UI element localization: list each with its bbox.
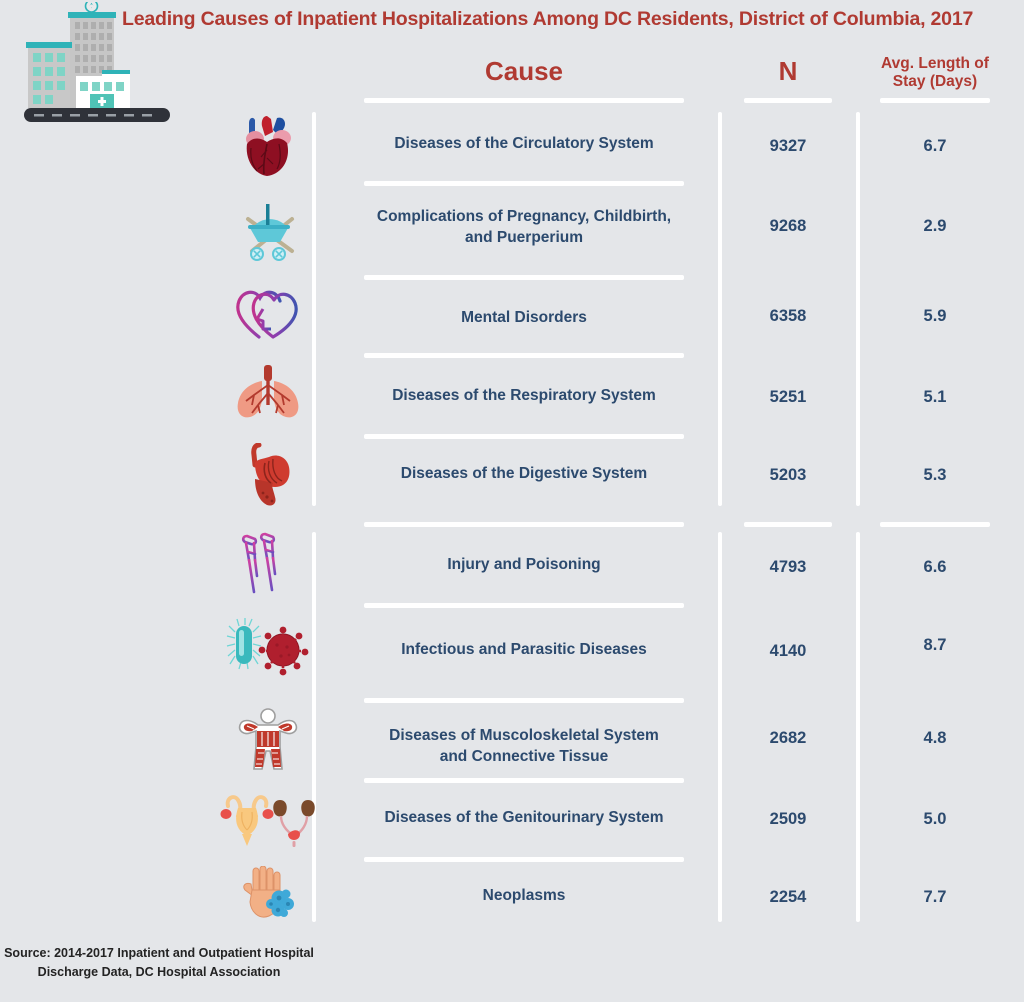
bacteria-virus-icon bbox=[225, 616, 311, 676]
cause-line-4a: Diseases of the Respiratory System bbox=[364, 386, 684, 407]
cause-line-10a: Neoplasms bbox=[364, 886, 684, 907]
cell-cause-10: Neoplasms bbox=[364, 886, 684, 907]
section-rule-n bbox=[744, 522, 832, 527]
row-icon-neoplasms bbox=[218, 865, 318, 925]
anatomical-heart-icon bbox=[237, 114, 299, 178]
row-separator-2 bbox=[364, 275, 684, 280]
cause-line-2b: and Puerperium bbox=[364, 228, 684, 249]
cause-line-2a: Complications of Pregnancy, Childbirth, bbox=[364, 207, 684, 228]
cell-alos-8: 4.8 bbox=[860, 727, 1010, 749]
cause-line-9a: Diseases of the Genitourinary System bbox=[364, 808, 684, 829]
cell-alos-3: 5.9 bbox=[860, 305, 1010, 327]
cell-cause-7: Infectious and Parasitic Diseases bbox=[364, 640, 684, 661]
cell-alos-9: 5.0 bbox=[860, 808, 1010, 830]
lungs-icon bbox=[230, 365, 306, 423]
row-separator-1 bbox=[364, 181, 684, 186]
cause-line-3a: Mental Disorders bbox=[364, 308, 684, 329]
mental-health-heart-icon bbox=[233, 285, 303, 343]
cell-cause-6: Injury and Poisoning bbox=[364, 555, 684, 576]
cell-alos-2: 2.9 bbox=[860, 215, 1010, 237]
section-rule-cause bbox=[364, 522, 684, 527]
header-rule-n bbox=[744, 98, 832, 103]
hand-tumor-cells-icon bbox=[235, 866, 301, 924]
cell-alos-6: 6.6 bbox=[860, 556, 1010, 578]
cell-cause-2: Complications of Pregnancy, Childbirth, … bbox=[364, 207, 684, 249]
row-icon-genitourinary bbox=[218, 785, 318, 851]
cell-n-9: 2509 bbox=[722, 808, 854, 830]
cell-n-5: 5203 bbox=[722, 464, 854, 486]
cell-alos-4: 5.1 bbox=[860, 386, 1010, 408]
row-icon-injury bbox=[218, 530, 318, 596]
cell-n-7: 4140 bbox=[722, 640, 854, 662]
cell-cause-3: Mental Disorders bbox=[364, 308, 684, 329]
cause-line-7a: Infectious and Parasitic Diseases bbox=[364, 640, 684, 661]
cell-n-1: 9327 bbox=[722, 135, 854, 157]
cause-line-8b: and Connective Tissue bbox=[364, 747, 684, 768]
cell-n-10: 2254 bbox=[722, 886, 854, 908]
cause-line-8a: Diseases of Muscoloskeletal System bbox=[364, 726, 684, 747]
cell-n-3: 6358 bbox=[722, 305, 854, 327]
source-line-1: Source: 2014-2017 Inpatient and Outpatie… bbox=[0, 944, 318, 963]
row-icon-pregnancy bbox=[218, 195, 318, 265]
section-rule-alos bbox=[880, 522, 990, 527]
row-separator-6 bbox=[364, 603, 684, 608]
cause-line-6a: Injury and Poisoning bbox=[364, 555, 684, 576]
source-line-2: Discharge Data, DC Hospital Association bbox=[0, 963, 318, 982]
cause-line-5a: Diseases of the Digestive System bbox=[364, 464, 684, 485]
baby-stroller-icon bbox=[234, 196, 302, 264]
cell-cause-1: Diseases of the Circulatory System bbox=[364, 134, 684, 155]
cell-alos-10: 7.7 bbox=[860, 886, 1010, 908]
cell-alos-1: 6.7 bbox=[860, 135, 1010, 157]
cell-cause-8: Diseases of Muscoloskeletal System and C… bbox=[364, 726, 684, 768]
row-icon-respiratory bbox=[218, 363, 318, 425]
row-separator-7 bbox=[364, 698, 684, 703]
genitourinary-icon bbox=[218, 786, 318, 850]
row-separator-9 bbox=[364, 857, 684, 862]
row-separator-4 bbox=[364, 434, 684, 439]
header-rule-alos bbox=[880, 98, 990, 103]
cell-n-4: 5251 bbox=[722, 386, 854, 408]
row-separator-3 bbox=[364, 353, 684, 358]
source-note: Source: 2014-2017 Inpatient and Outpatie… bbox=[0, 944, 318, 982]
row-icon-digestive bbox=[218, 443, 318, 509]
row-icon-infectious bbox=[218, 614, 318, 678]
row-icon-mental bbox=[218, 283, 318, 345]
header-rule-cause bbox=[364, 98, 684, 103]
data-table: Diseases of the Circulatory System 9327 … bbox=[0, 0, 1024, 1002]
row-icon-musculoskeletal bbox=[218, 707, 318, 773]
row-separator-8 bbox=[364, 778, 684, 783]
stomach-icon bbox=[233, 443, 303, 509]
cell-cause-5: Diseases of the Digestive System bbox=[364, 464, 684, 485]
cell-n-2: 9268 bbox=[722, 215, 854, 237]
cell-cause-4: Diseases of the Respiratory System bbox=[364, 386, 684, 407]
cell-n-8: 2682 bbox=[722, 727, 854, 749]
cell-alos-7: 8.7 bbox=[860, 634, 1010, 656]
crutches-icon bbox=[237, 530, 299, 596]
cell-cause-9: Diseases of the Genitourinary System bbox=[364, 808, 684, 829]
cause-line-1a: Diseases of the Circulatory System bbox=[364, 134, 684, 155]
cell-n-6: 4793 bbox=[722, 556, 854, 578]
row-icon-circulatory bbox=[218, 112, 318, 180]
muscular-system-icon bbox=[234, 707, 302, 773]
cell-alos-5: 5.3 bbox=[860, 464, 1010, 486]
